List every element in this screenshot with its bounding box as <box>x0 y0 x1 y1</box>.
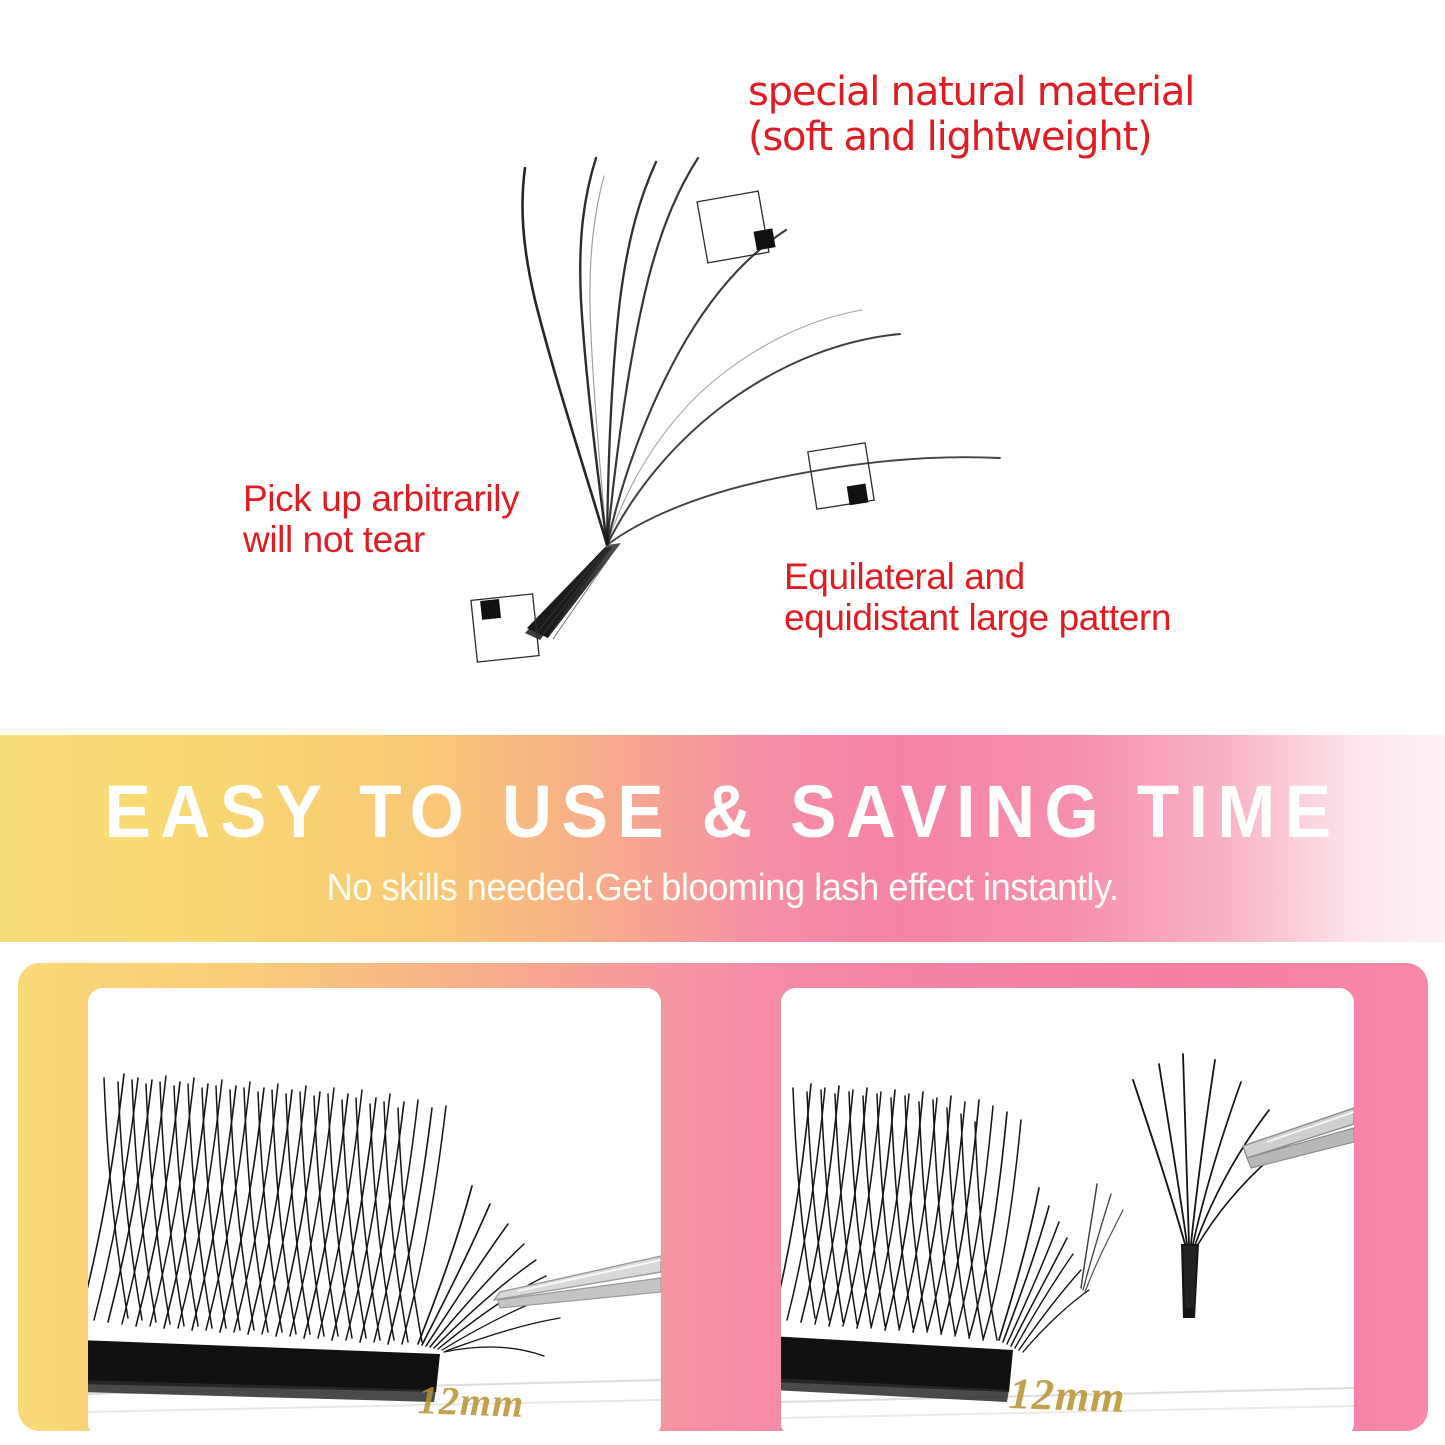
length-label-right: 12mm <box>1008 1367 1126 1422</box>
annotation-label-equilateral: Equilateral and equidistant large patter… <box>784 556 1171 639</box>
photo-frame-right: 12mm <box>781 988 1354 1438</box>
annotation-label-pickup: Pick up arbitrarily will not tear <box>243 478 519 561</box>
headline-banner: EASY TO USE & SAVING TIME No skills need… <box>0 735 1445 942</box>
banner-subtitle: No skills needed.Get blooming lash effec… <box>326 869 1118 907</box>
photo-frame-left: 12mm <box>88 988 661 1438</box>
lash-tray-photo <box>88 988 661 1438</box>
callout-marker-top <box>697 191 775 263</box>
photo-panel: 12mm <box>18 963 1428 1431</box>
lash-fan-diagram <box>0 0 1445 735</box>
annotation-label-material: special natural material (soft and light… <box>748 70 1194 160</box>
hero-section: special natural material (soft and light… <box>0 0 1445 735</box>
banner-title: EASY TO USE & SAVING TIME <box>104 775 1340 849</box>
callout-marker-middle <box>808 443 874 509</box>
length-label-left: 12mm <box>417 1376 525 1427</box>
